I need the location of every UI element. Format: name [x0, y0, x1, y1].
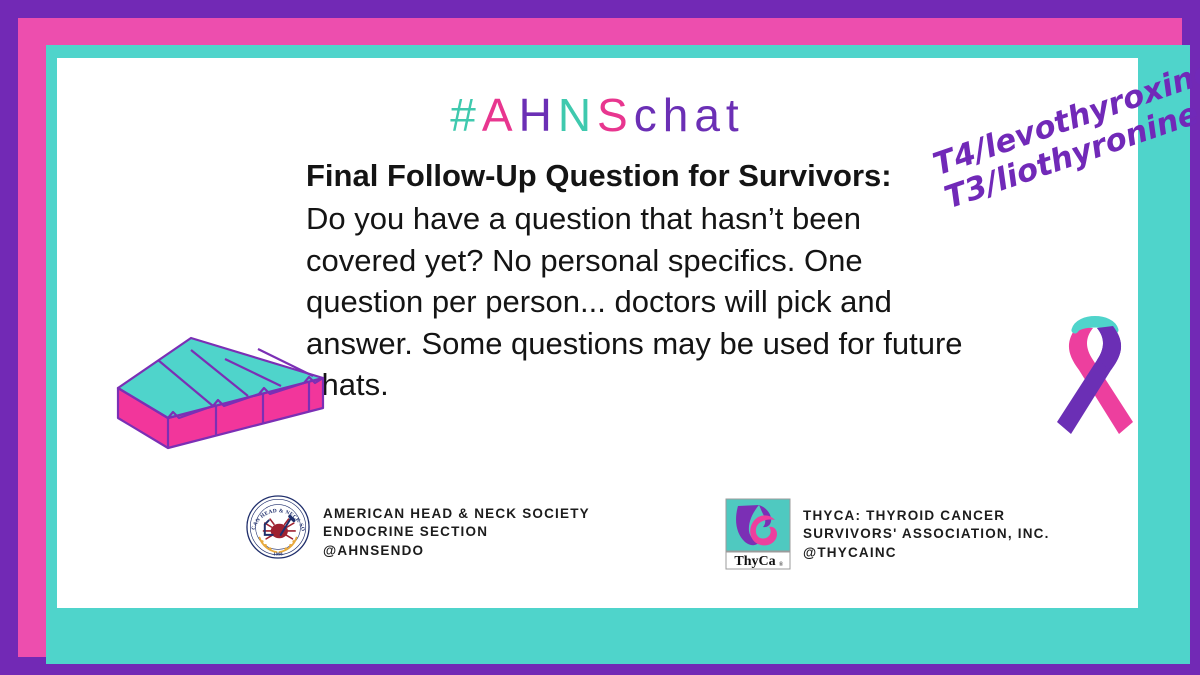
hashtag-part-n: N [558, 89, 597, 141]
thyca-logo-icon: ThyCa ® [725, 498, 791, 570]
org-thyca: ThyCa ® THYCA: THYROID CANCER SURVIVORS'… [725, 498, 1050, 570]
ahns-line-2: ENDOCRINE SECTION [323, 523, 590, 541]
ahns-text-block: AMERICAN HEAD & NECK SOCIETY ENDOCRINE S… [323, 494, 590, 560]
thyca-line-2: SURVIVORS' ASSOCIATION, INC. [803, 525, 1050, 543]
hashtag-part-chat: chat [634, 89, 745, 141]
thyca-wordmark-suffix: ® [779, 561, 784, 568]
thyca-line-1: THYCA: THYROID CANCER [803, 507, 1050, 525]
thyca-text-block: THYCA: THYROID CANCER SURVIVORS' ASSOCIA… [803, 498, 1050, 562]
pill-organizer-svg [113, 326, 338, 456]
org-ahns: AMERICAN HEAD & NECK SOCIETY [245, 494, 590, 560]
hashtag-title: #AHNSchat [57, 88, 1138, 142]
question-heading: Final Follow-Up Question for Survivors: [306, 156, 966, 196]
content-card: #AHNSchat T4/levothyroxine, T3/liothyron… [57, 58, 1138, 608]
question-body: Do you have a question that hasn’t been … [306, 198, 966, 406]
hashtag-part-hash: # [450, 89, 482, 141]
ahns-seal-icon: AMERICAN HEAD & NECK SOCIETY [245, 494, 311, 560]
hashtag-part-a: A [482, 89, 519, 141]
hashtag-part-h: H [519, 89, 558, 141]
footer-logos: AMERICAN HEAD & NECK SOCIETY [57, 494, 1138, 590]
ahns-line-1: AMERICAN HEAD & NECK SOCIETY [323, 505, 590, 523]
main-copy-block: Final Follow-Up Question for Survivors: … [306, 156, 966, 406]
awareness-ribbon-svg [1045, 308, 1145, 443]
awareness-ribbon-icon [1045, 308, 1145, 443]
thyca-wordmark: ThyCa [734, 554, 775, 569]
thyca-handle: @THYCAINC [803, 544, 1050, 562]
ahns-handle: @AHNSENDO [323, 542, 590, 560]
ahns-seal-year: 1998 [273, 551, 283, 556]
pill-organizer-icon [113, 326, 338, 456]
hashtag-part-s: S [597, 89, 634, 141]
